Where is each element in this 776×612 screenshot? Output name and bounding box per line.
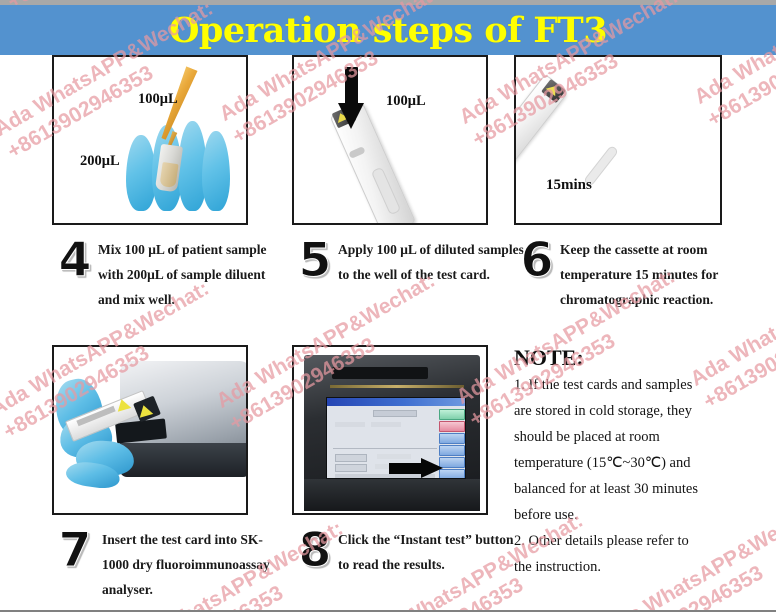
cassette-sample-well-photo: 100μL (292, 55, 488, 225)
step-card-5: 100μL 5 Apply 100 μL of diluted samples … (292, 55, 524, 287)
cassette-incubating-photo: 15mins (514, 55, 722, 225)
device-base-icon (304, 479, 480, 511)
note-line: balanced for at least 30 minutes (514, 476, 768, 502)
screen-label (371, 422, 401, 427)
step-number-7: 7 (52, 525, 98, 577)
step-number-8: 8 (292, 525, 338, 577)
note-line: 1. If the test cards and samples (514, 372, 768, 398)
step-card-7: 7 Insert the test card into SK-1000 dry … (52, 345, 284, 602)
step-caption-6: Keep the cassette at room temperature 15… (560, 235, 768, 312)
step-caption-7: Insert the test card into SK-1000 dry fl… (98, 525, 284, 602)
caption-row: 5 Apply 100 μL of diluted samples to the… (292, 235, 524, 287)
instant-test-button (439, 433, 465, 444)
caption-row: 6 Keep the cassette at room temperature … (514, 235, 768, 312)
step-number-5: 5 (292, 235, 338, 287)
note-line: are stored in cold storage, they (514, 398, 768, 424)
finger-shape (202, 131, 230, 211)
device-screen (326, 397, 466, 479)
steps-grid: 100μL 200μL 4 Mix 100 μL of patient samp… (0, 55, 776, 610)
device-gold-trim (330, 385, 464, 388)
screen-label (335, 464, 367, 472)
step-caption-4: Mix 100 μL of patient sample with 200μL … (98, 235, 284, 312)
caption-row: 7 Insert the test card into SK-1000 dry … (52, 525, 284, 602)
arrow-shaft (345, 67, 358, 105)
note-line: temperature (15℃~30℃) and (514, 450, 768, 476)
device-top-bar (332, 367, 428, 379)
step-card-4: 100μL 200μL 4 Mix 100 μL of patient samp… (52, 55, 284, 312)
page-title: Operation steps of FT3 (169, 10, 607, 51)
step-card-6: 15mins 6 Keep the cassette at room tempe… (514, 55, 768, 312)
arrow-head (338, 103, 364, 129)
caption-row: 4 Mix 100 μL of patient sample with 200μ… (52, 235, 284, 312)
screen-button (439, 421, 465, 432)
header-banner: Operation steps of FT3 (0, 5, 776, 55)
operation-steps-poster: Operation steps of FT3 100μL 200μL 4 (0, 0, 776, 612)
insert-card-into-analyser-photo (52, 345, 248, 515)
down-arrow-icon (338, 67, 364, 129)
screen-button (439, 445, 465, 456)
note-title: NOTE: (514, 345, 768, 371)
volume-label-100ul: 100μL (138, 91, 178, 108)
software-title-bar (327, 398, 466, 406)
step-card-8: 8 Click the “Instant test” button to rea… (292, 345, 524, 577)
step-number-6: 6 (514, 235, 560, 287)
arrow-head (421, 458, 443, 478)
note-line: before use. (514, 502, 768, 528)
volume-label-200ul: 200μL (80, 153, 120, 170)
note-line: the instruction. (514, 554, 768, 580)
arrow-shaft (389, 463, 423, 474)
note-block: NOTE: 1. If the test cards and samples a… (514, 345, 768, 580)
right-arrow-icon (389, 458, 443, 478)
analyser-screen-instant-test-photo (292, 345, 488, 515)
step-caption-8: Click the “Instant test” button to read … (338, 525, 524, 577)
volume-label-100ul: 100μL (386, 93, 426, 110)
note-line: 2. Other details please refer to (514, 528, 768, 554)
step-number-4: 4 (52, 235, 98, 287)
screen-divider (333, 448, 437, 449)
screen-label (335, 454, 367, 462)
caption-row: 8 Click the “Instant test” button to rea… (292, 525, 524, 577)
duration-label-15mins: 15mins (546, 177, 592, 194)
note-line: should be placed at room (514, 424, 768, 450)
screen-input-field (373, 410, 417, 417)
pipette-into-tube-photo: 100μL 200μL (52, 55, 248, 225)
screen-button (439, 409, 465, 420)
screen-label (335, 422, 365, 427)
step-caption-5: Apply 100 μL of diluted samples to the w… (338, 235, 524, 287)
